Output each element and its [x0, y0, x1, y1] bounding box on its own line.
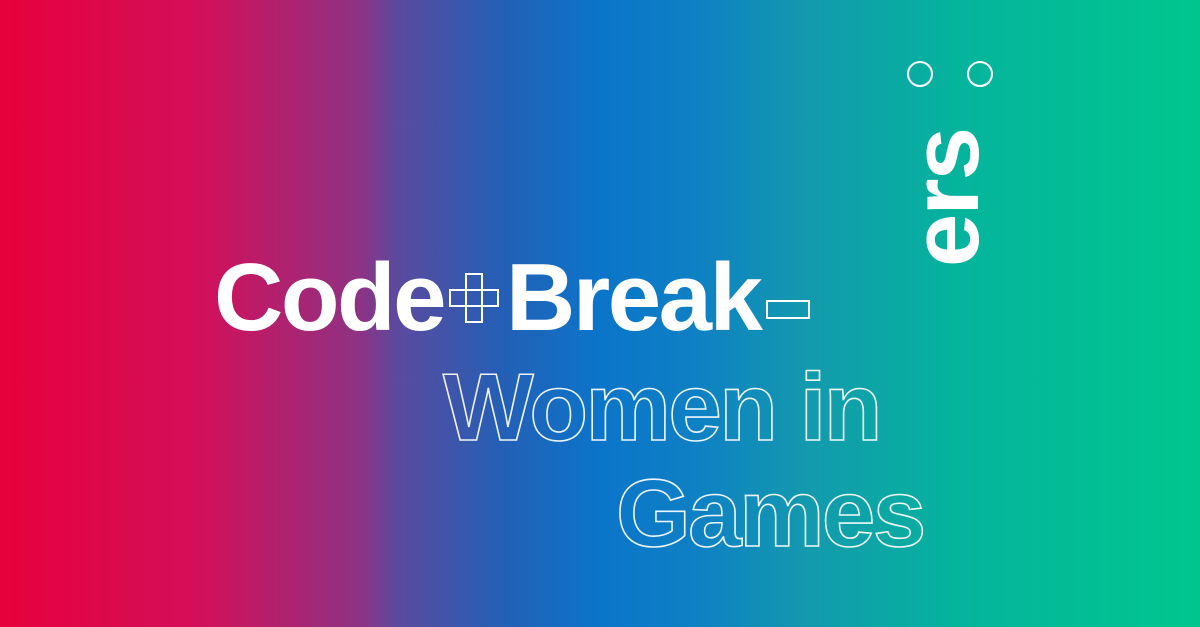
title-word-code: Code	[214, 250, 444, 346]
title-word-ers: ers	[898, 83, 994, 313]
title-line-women-in: Women in	[443, 360, 880, 456]
full-title-text: Code+Breakers: Women in Games	[0, 0, 1, 1]
title-stage: Code Break ers Women in Games Code+Break…	[0, 0, 1200, 627]
title-rotated-suffix: ers	[901, 55, 997, 330]
plus-icon	[449, 273, 499, 323]
plus-icon-core	[467, 291, 481, 305]
event-banner: Code Break ers Women in Games Code+Break…	[0, 0, 1200, 627]
title-line-games: Games	[616, 466, 924, 562]
hyphen-icon	[766, 300, 810, 319]
title-line-primary: Code Break	[214, 250, 810, 346]
title-word-break: Break	[506, 250, 760, 346]
